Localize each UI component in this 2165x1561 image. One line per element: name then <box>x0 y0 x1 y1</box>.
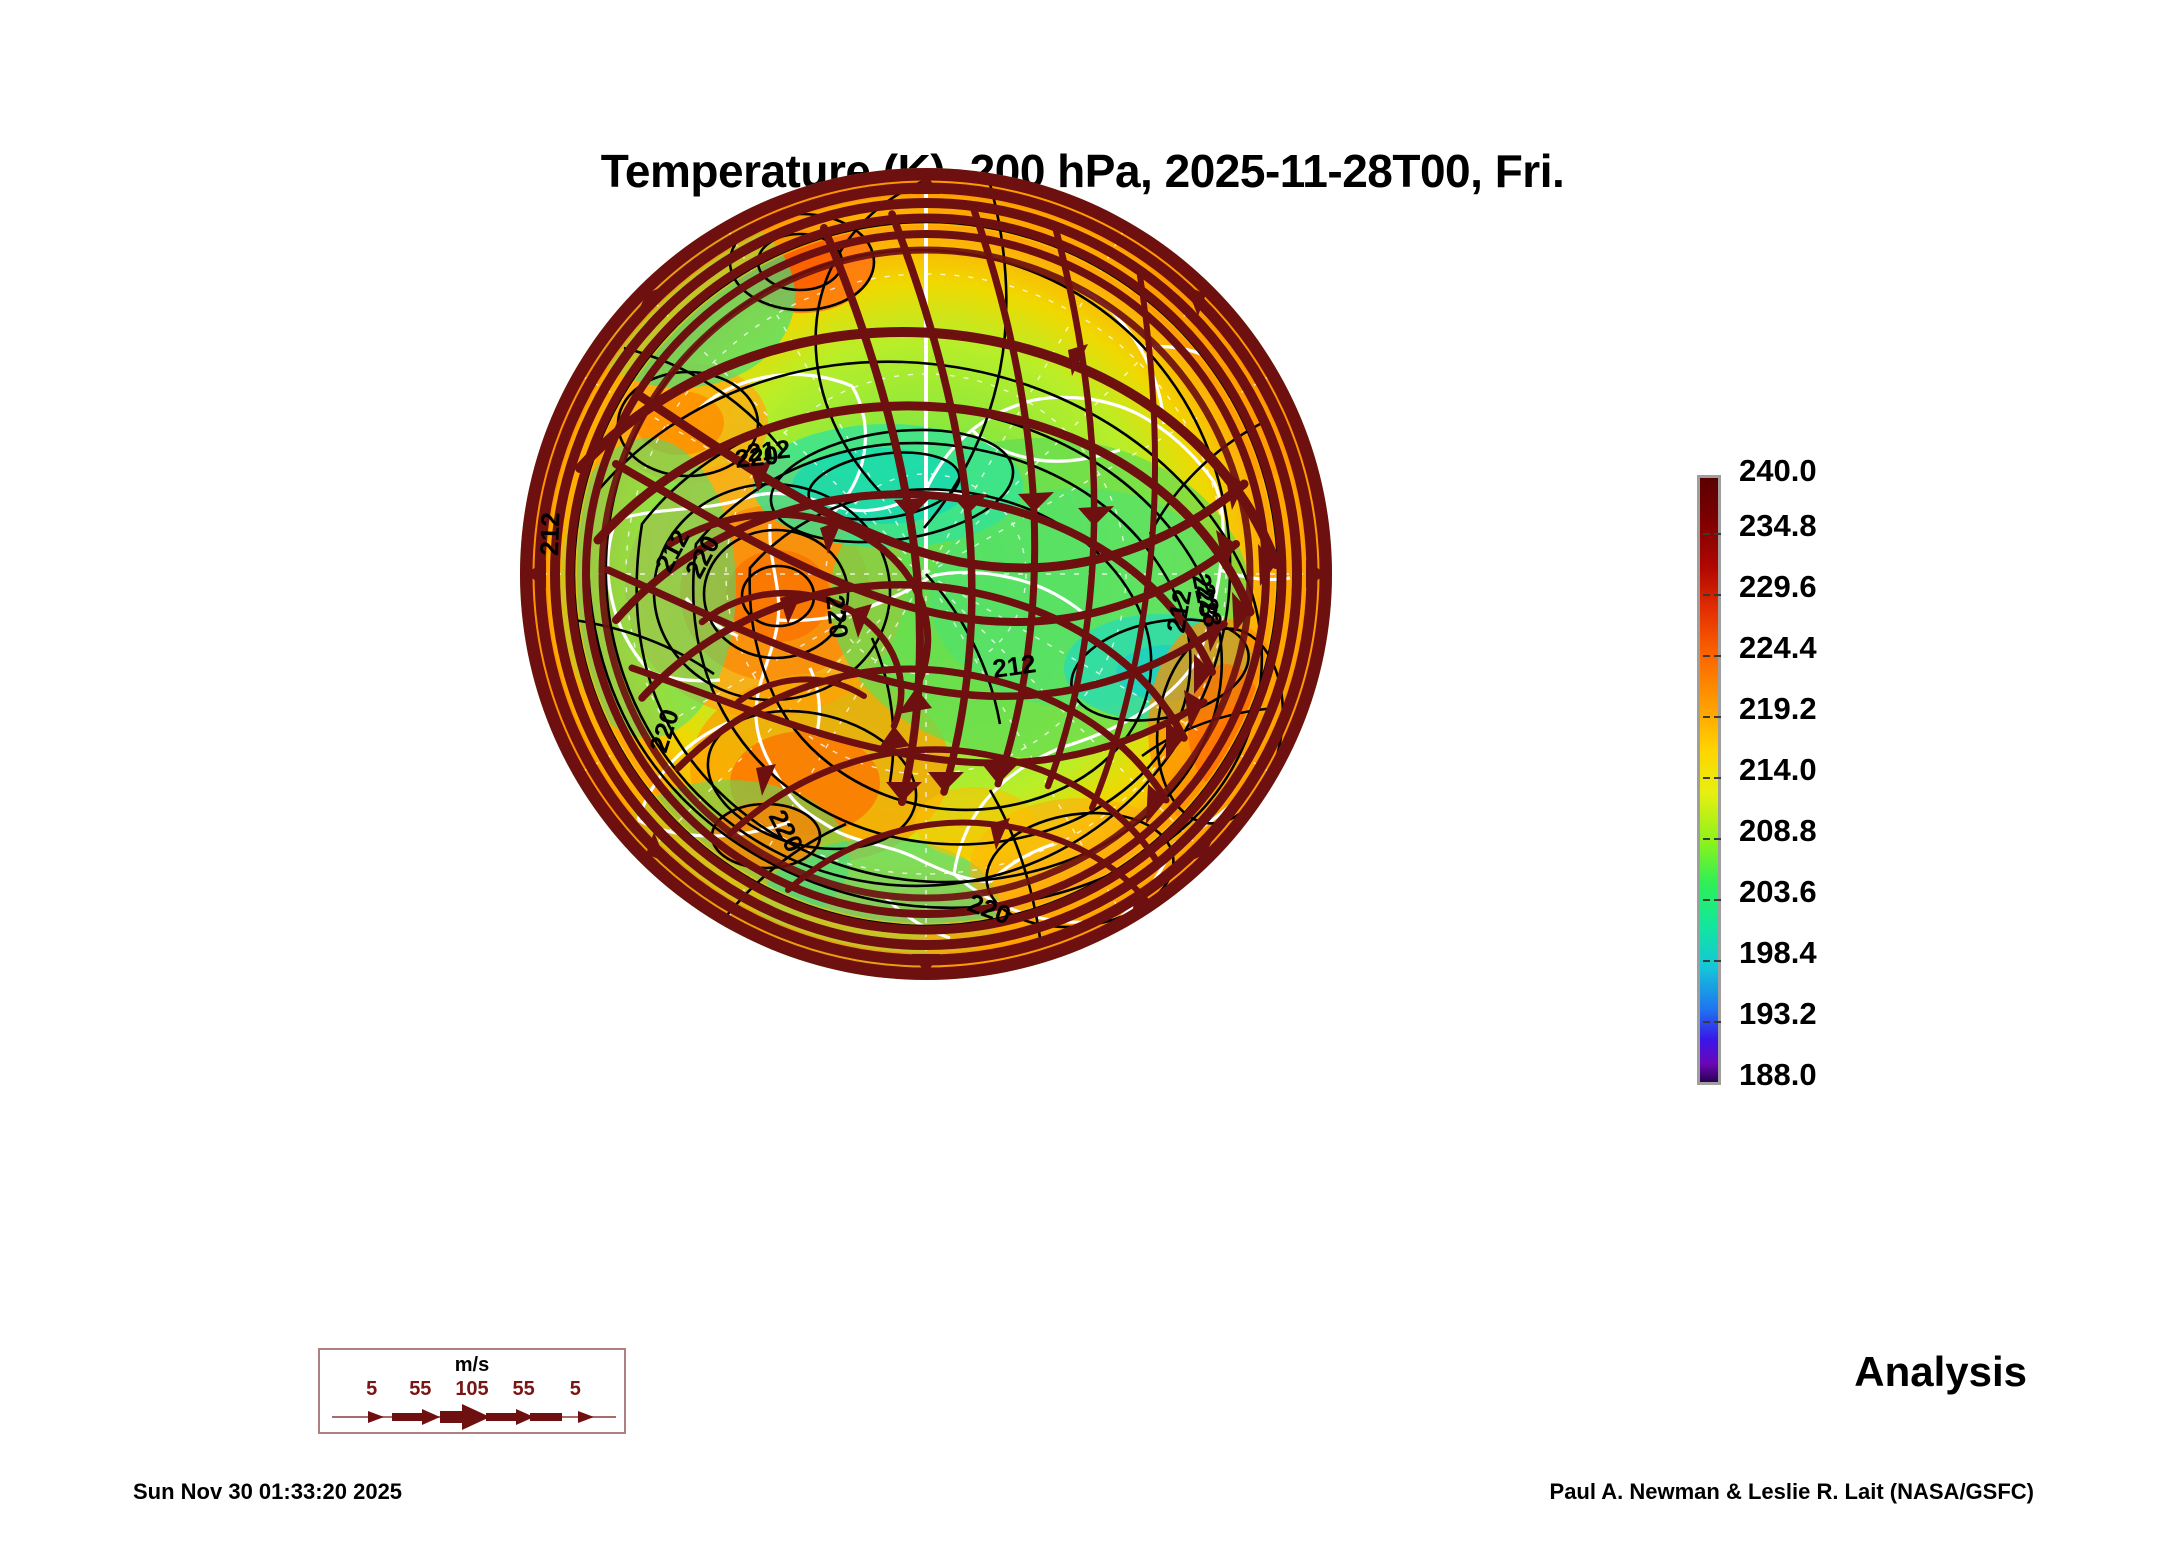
colorbar-tick-label: 203.6 <box>1739 874 1817 910</box>
colorbar-tick-label: 198.4 <box>1739 935 1817 971</box>
colorbar-tick-label: 214.0 <box>1739 752 1817 788</box>
contour-label: 212 <box>534 512 565 556</box>
wind-tick-label: 5 <box>570 1378 581 1401</box>
wind-arrow-55-right <box>510 1409 562 1425</box>
colorbar-tick-label: 208.8 <box>1739 813 1817 849</box>
wind-tick-label: 5 <box>366 1378 377 1401</box>
wind-arrow-105 <box>440 1404 510 1430</box>
colorbar-tick-label: 193.2 <box>1739 996 1817 1032</box>
wind-arrow-55-left <box>392 1409 440 1425</box>
wind-speed-legend: m/s 5 55 105 55 5 <box>318 1348 626 1434</box>
wind-unit-label: m/s <box>320 1354 624 1377</box>
analysis-label: Analysis <box>1854 1348 2027 1396</box>
contour-label: 212 <box>991 648 1038 684</box>
wind-tick-label: 55 <box>409 1378 431 1401</box>
contour-label: 220 <box>820 593 854 639</box>
polar-map-panel: 220 212 228 220 212 220 212 220 220 228 … <box>520 168 1332 980</box>
globe-disc: 220 212 228 220 212 220 212 220 220 228 … <box>520 168 1332 980</box>
contour-label: 212 <box>745 434 791 468</box>
temperature-field-svg: 220 212 228 220 212 220 212 220 220 228 … <box>520 168 1332 980</box>
colorbar-gradient <box>1697 475 1721 1085</box>
render-timestamp: Sun Nov 30 01:33:20 2025 <box>133 1479 402 1505</box>
colorbar-tick-label: 229.6 <box>1739 569 1817 605</box>
colorbar-tick-label: 240.0 <box>1739 453 1817 489</box>
wind-tick-label: 105 <box>455 1378 488 1401</box>
colorbar-tick-label: 234.8 <box>1739 508 1817 544</box>
credit-line: Paul A. Newman & Leslie R. Lait (NASA/GS… <box>1550 1479 2034 1505</box>
wind-arrow-5-left <box>368 1411 384 1423</box>
wind-arrow-scale-svg <box>330 1402 618 1432</box>
wind-tick-label: 55 <box>513 1378 535 1401</box>
colorbar-tick-label: 219.2 <box>1739 691 1817 727</box>
colorbar-tick-label: 188.0 <box>1739 1057 1817 1093</box>
wind-arrow-scale <box>330 1402 618 1432</box>
wind-arrow-5-right <box>578 1411 594 1423</box>
colorbar-tick-label: 224.4 <box>1739 630 1817 666</box>
wind-tick-labels: 5 55 105 55 5 <box>320 1378 624 1400</box>
